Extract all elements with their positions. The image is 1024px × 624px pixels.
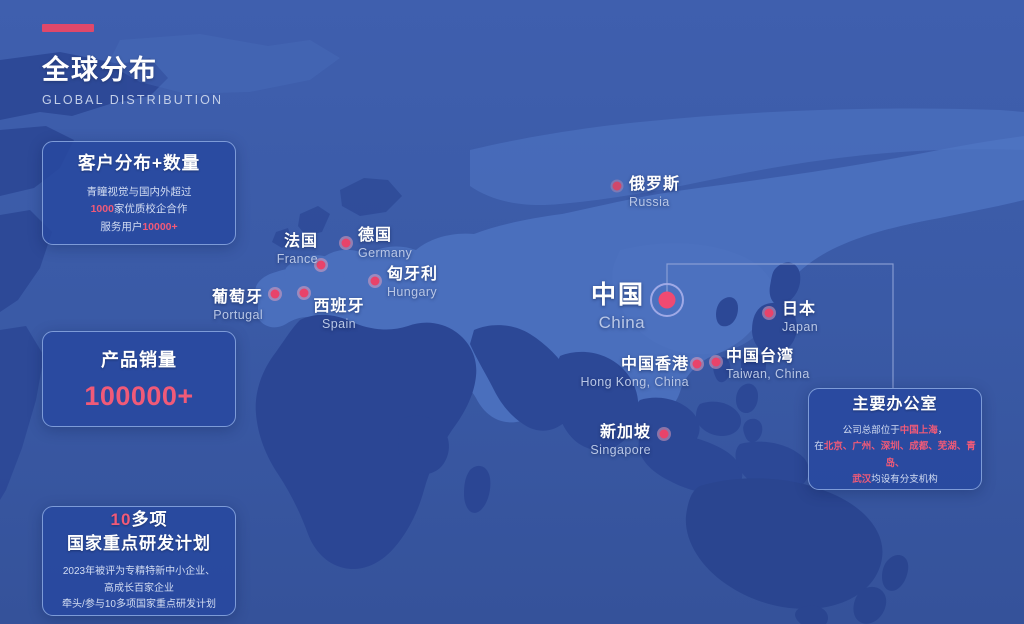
map-label-china[interactable]: 中国China bbox=[591, 275, 645, 333]
sales-value: 100000+ bbox=[84, 381, 193, 412]
map-label-portugal[interactable]: 葡萄牙Portugal bbox=[212, 283, 263, 322]
map-label-en-hongkong: Hong Kong, China bbox=[580, 375, 689, 389]
map-label-zh-france: 法国 bbox=[277, 227, 318, 251]
map-label-russia[interactable]: 俄罗斯Russia bbox=[629, 170, 680, 209]
map-label-zh-russia: 俄罗斯 bbox=[629, 170, 680, 194]
map-label-en-hungary: Hungary bbox=[387, 285, 438, 299]
map-label-en-france: France bbox=[277, 252, 318, 266]
map-label-en-singapore: Singapore bbox=[590, 443, 651, 457]
map-label-en-germany: Germany bbox=[358, 246, 412, 260]
map-label-hongkong[interactable]: 中国香港Hong Kong, China bbox=[580, 350, 689, 389]
rnd-count: 10 bbox=[111, 510, 132, 529]
rnd-line2: 高成长百家企业 bbox=[62, 581, 216, 598]
map-marker-spain[interactable] bbox=[300, 289, 309, 298]
rnd-line1: 2023年被评为专精特新中小企业、 bbox=[62, 564, 216, 581]
office-branch-cities: 北京、广州、深圳、成都、芜湖、青岛、 bbox=[824, 441, 976, 468]
card-title: 客户分布+数量 bbox=[78, 150, 200, 175]
map-marker-germany[interactable] bbox=[342, 239, 351, 248]
map-label-zh-portugal: 葡萄牙 bbox=[212, 283, 263, 307]
map-label-japan[interactable]: 日本Japan bbox=[782, 295, 818, 334]
map-label-hungary[interactable]: 匈牙利Hungary bbox=[387, 260, 438, 299]
clients-line2: 家优质校企合作 bbox=[114, 203, 188, 215]
card-title: 主要办公室 bbox=[852, 390, 937, 414]
map-label-zh-hongkong: 中国香港 bbox=[580, 350, 689, 374]
map-label-zh-japan: 日本 bbox=[782, 295, 818, 319]
map-marker-singapore[interactable] bbox=[660, 430, 669, 439]
global-distribution-poster: 全球分布 GLOBAL DISTRIBUTION 客户分布+数量 青瞳视觉与国内… bbox=[0, 0, 1024, 624]
map-marker-japan[interactable] bbox=[765, 309, 774, 318]
office-l1-pre: 公司总部位于 bbox=[843, 425, 900, 436]
card-body: 青瞳视觉与国内外超过 1000家优质校企合作 服务用户10000+ bbox=[87, 184, 192, 236]
card-main-offices[interactable]: 主要办公室 公司总部位于中国上海， 在北京、广州、深圳、成都、芜湖、青岛、 武汉… bbox=[808, 388, 982, 490]
map-label-zh-germany: 德国 bbox=[358, 221, 412, 245]
map-marker-portugal[interactable] bbox=[271, 290, 280, 299]
clients-users-count: 10000+ bbox=[142, 221, 177, 233]
map-label-zh-hungary: 匈牙利 bbox=[387, 260, 438, 284]
map-label-spain[interactable]: 西班牙Spain bbox=[313, 292, 364, 331]
map-label-en-japan: Japan bbox=[782, 320, 818, 334]
map-marker-russia[interactable] bbox=[613, 182, 622, 191]
office-l2-pre: 在 bbox=[814, 441, 824, 452]
page-title: 全球分布 bbox=[42, 48, 223, 87]
card-title: 10多项 国家重点研发计划 bbox=[67, 508, 211, 556]
map-marker-taiwan[interactable] bbox=[712, 358, 721, 367]
map-marker-hungary[interactable] bbox=[371, 277, 380, 286]
page-subtitle: GLOBAL DISTRIBUTION bbox=[42, 93, 223, 107]
map-label-en-russia: Russia bbox=[629, 195, 680, 209]
card-product-sales[interactable]: 产品销量 100000+ bbox=[42, 331, 236, 427]
map-label-france[interactable]: 法国France bbox=[277, 227, 318, 266]
map-label-taiwan[interactable]: 中国台湾Taiwan, China bbox=[726, 342, 810, 381]
map-label-singapore[interactable]: 新加坡Singapore bbox=[590, 418, 651, 457]
map-label-zh-taiwan: 中国台湾 bbox=[726, 342, 810, 366]
map-label-zh-china: 中国 bbox=[591, 275, 645, 311]
office-hq-city: 中国上海 bbox=[900, 425, 938, 436]
card-client-distribution[interactable]: 客户分布+数量 青瞳视觉与国内外超过 1000家优质校企合作 服务用户10000… bbox=[42, 141, 236, 245]
map-label-zh-spain: 西班牙 bbox=[313, 292, 364, 316]
clients-line3-pre: 服务用户 bbox=[100, 221, 142, 233]
page-header: 全球分布 GLOBAL DISTRIBUTION bbox=[42, 24, 223, 107]
office-l1-post: ， bbox=[938, 425, 948, 436]
map-label-en-portugal: Portugal bbox=[212, 308, 263, 322]
office-branch-city-last: 武汉 bbox=[852, 474, 871, 485]
map-label-en-china: China bbox=[591, 313, 645, 333]
map-marker-hongkong[interactable] bbox=[693, 360, 702, 369]
rnd-title-line2: 国家重点研发计划 bbox=[67, 532, 211, 556]
map-label-en-spain: Spain bbox=[313, 317, 364, 331]
card-body: 2023年被评为专精特新中小企业、 高成长百家企业 牵头/参与10多项国家重点研… bbox=[62, 564, 216, 614]
clients-count-1000: 1000 bbox=[91, 203, 114, 215]
office-l3-post: 均设有分支机构 bbox=[871, 474, 938, 485]
map-label-en-taiwan: Taiwan, China bbox=[726, 367, 810, 381]
card-body: 公司总部位于中国上海， 在北京、广州、深圳、成都、芜湖、青岛、 武汉均设有分支机… bbox=[809, 423, 981, 488]
map-label-zh-singapore: 新加坡 bbox=[590, 418, 651, 442]
card-national-rnd-programs[interactable]: 10多项 国家重点研发计划 2023年被评为专精特新中小企业、 高成长百家企业 … bbox=[42, 506, 236, 616]
map-label-germany[interactable]: 德国Germany bbox=[358, 221, 412, 260]
accent-bar bbox=[42, 24, 94, 32]
rnd-line3: 牵头/参与10多项国家重点研发计划 bbox=[62, 597, 216, 614]
clients-line1: 青瞳视觉与国内外超过 bbox=[87, 186, 192, 198]
map-marker-china[interactable] bbox=[659, 292, 676, 309]
rnd-count-unit: 多项 bbox=[131, 510, 167, 529]
card-title: 产品销量 bbox=[101, 346, 177, 372]
